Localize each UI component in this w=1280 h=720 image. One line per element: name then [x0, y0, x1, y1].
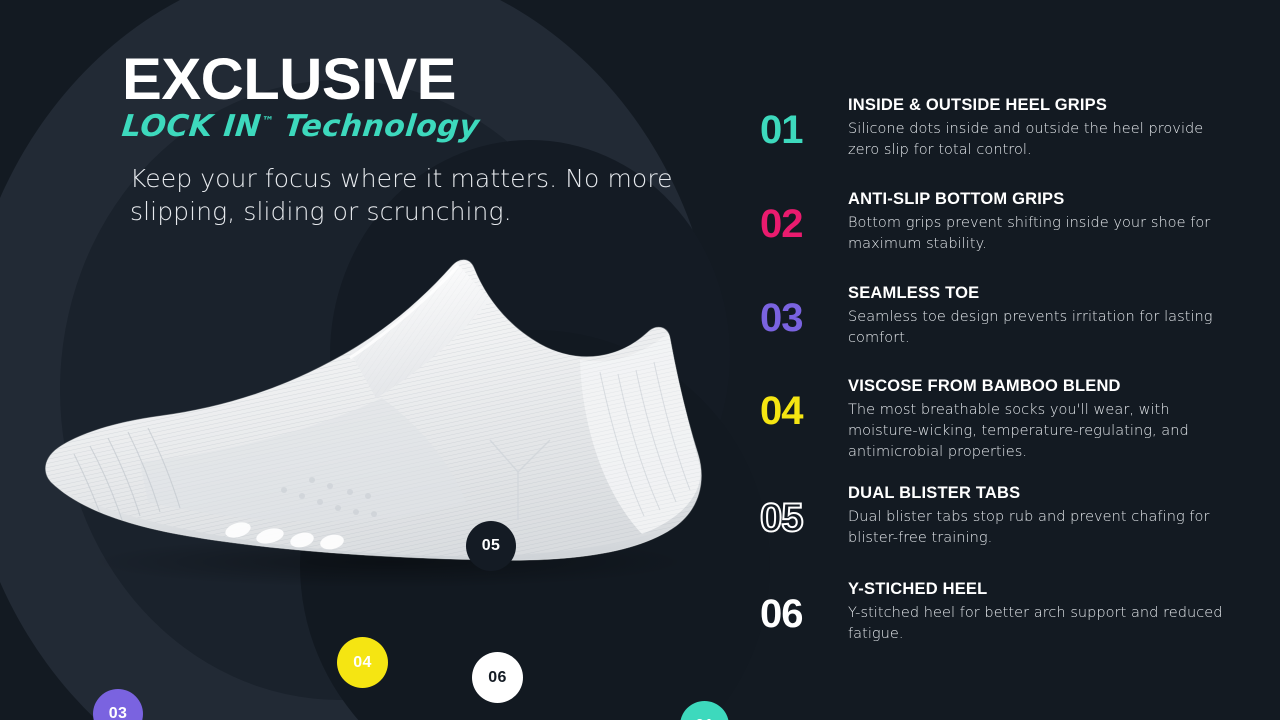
feature-item-04: 04 VISCOSE FROM BAMBOO BLEND The most br…: [760, 377, 1230, 463]
feature-title-03: SEAMLESS TOE: [848, 284, 1230, 304]
feature-title-04: VISCOSE FROM BAMBOO BLEND: [848, 377, 1230, 397]
feature-number-01: 01: [760, 96, 848, 150]
brand-tagline: LOCK IN™ Technology: [120, 109, 724, 144]
feature-number-06: 06: [760, 580, 848, 634]
feature-title-01: INSIDE & OUTSIDE HEEL GRIPS: [848, 96, 1230, 116]
feature-item-05: 05 DUAL BLISTER TABS Dual blister tabs s…: [760, 484, 1230, 549]
hotspot-05-label: 05: [482, 538, 500, 554]
brand-tagline-tail: Technology: [283, 109, 482, 144]
feature-title-06: Y-STICHED HEEL: [848, 580, 1230, 600]
hotspot-01[interactable]: 01: [680, 701, 729, 720]
product-image: 01 02 03 04 05 06: [20, 240, 740, 590]
feature-description-06: Y-stitched heel for better arch support …: [848, 603, 1230, 645]
feature-body-04: VISCOSE FROM BAMBOO BLEND The most breat…: [848, 377, 1230, 463]
feature-item-06: 06 Y-STICHED HEEL Y-stitched heel for be…: [760, 580, 1230, 645]
hotspot-05[interactable]: 05: [466, 521, 516, 571]
feature-description-01: Silicone dots inside and outside the hee…: [848, 119, 1230, 161]
feature-description-03: Seamless toe design prevents irritation …: [848, 307, 1230, 349]
feature-title-05: DUAL BLISTER TABS: [848, 484, 1230, 504]
brand-tagline-main: LOCK IN: [120, 109, 263, 144]
hotspot-04[interactable]: 04: [337, 637, 388, 688]
hotspot-04-label: 04: [353, 655, 371, 671]
feature-number-02: 02: [760, 190, 848, 244]
hotspot-03-label: 03: [109, 706, 127, 720]
hotspot-06[interactable]: 06: [472, 652, 523, 703]
feature-body-03: SEAMLESS TOE Seamless toe design prevent…: [848, 284, 1230, 349]
feature-description-04: The most breathable socks you'll wear, w…: [848, 400, 1230, 463]
trademark-symbol: ™: [261, 114, 275, 128]
page-title: EXCLUSIVE: [122, 52, 740, 107]
feature-body-05: DUAL BLISTER TABS Dual blister tabs stop…: [848, 484, 1230, 549]
feature-body-01: INSIDE & OUTSIDE HEEL GRIPS Silicone dot…: [848, 96, 1230, 161]
hero-column: EXCLUSIVE LOCK IN™ Technology Keep your …: [0, 0, 745, 720]
feature-number-04: 04: [760, 377, 848, 431]
feature-item-01: 01 INSIDE & OUTSIDE HEEL GRIPS Silicone …: [760, 96, 1230, 161]
feature-title-02: ANTI-SLIP BOTTOM GRIPS: [848, 190, 1230, 210]
hotspot-03[interactable]: 03: [93, 689, 143, 720]
headline-block: EXCLUSIVE LOCK IN™ Technology: [122, 52, 722, 144]
feature-number-05: 05: [760, 484, 848, 538]
feature-item-03: 03 SEAMLESS TOE Seamless toe design prev…: [760, 284, 1230, 349]
promo-slide: EXCLUSIVE LOCK IN™ Technology Keep your …: [0, 0, 1280, 720]
hero-description: Keep your focus where it matters. No mor…: [130, 162, 705, 229]
hotspot-06-label: 06: [488, 670, 506, 686]
feature-body-02: ANTI-SLIP BOTTOM GRIPS Bottom grips prev…: [848, 190, 1230, 255]
sock-illustration: [20, 240, 740, 590]
feature-description-02: Bottom grips prevent shifting inside you…: [848, 213, 1230, 255]
feature-item-02: 02 ANTI-SLIP BOTTOM GRIPS Bottom grips p…: [760, 190, 1230, 255]
feature-description-05: Dual blister tabs stop rub and prevent c…: [848, 507, 1230, 549]
feature-body-06: Y-STICHED HEEL Y-stitched heel for bette…: [848, 580, 1230, 645]
feature-number-03: 03: [760, 284, 848, 338]
